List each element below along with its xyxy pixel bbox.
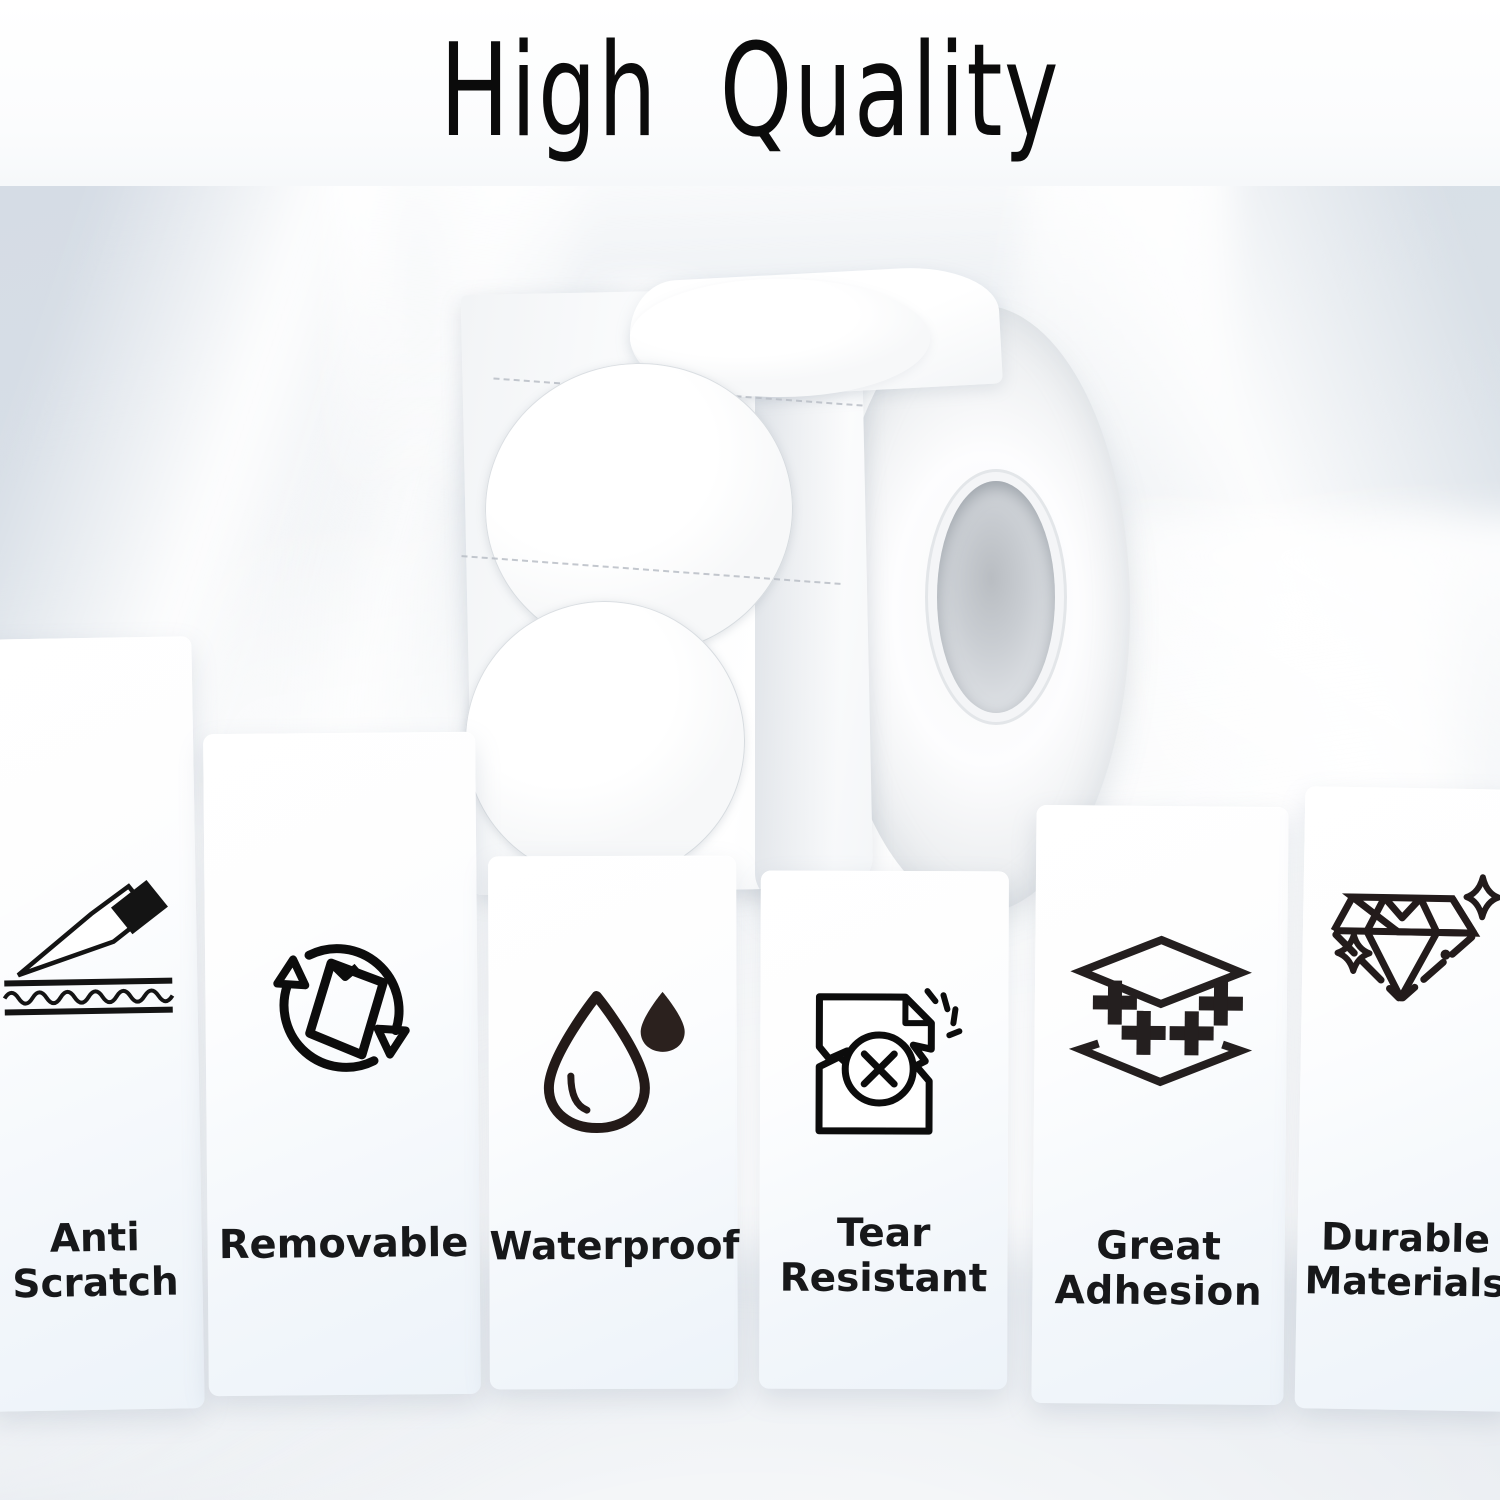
feature-label: Anti Scratch (0, 1214, 203, 1308)
diamond-sparkle-icon (1301, 872, 1500, 1026)
feature-card-anti-scratch: Anti Scratch (0, 636, 205, 1412)
feature-label: Durable Materials (1296, 1214, 1500, 1306)
feature-card-tear-resistant: Tear Resistant (759, 871, 1009, 1390)
feature-cards-row: Anti Scratch Removable (0, 0, 1500, 1500)
feature-card-durable-materials: Durable Materials (1295, 786, 1500, 1412)
feature-card-waterproof: Waterproof (488, 856, 738, 1390)
knife-scratch-surface-icon (0, 872, 198, 1016)
feature-label: Great Adhesion (1032, 1223, 1285, 1316)
feature-card-removable: Removable (203, 732, 481, 1396)
header-band: High Quality (0, 0, 1500, 186)
feature-label: Tear Resistant (759, 1211, 1007, 1302)
page-title: High Quality (150, 22, 1350, 162)
feature-label: Waterproof (489, 1224, 737, 1270)
water-droplet-icon (489, 984, 738, 1135)
feature-label: Removable (207, 1220, 479, 1269)
torn-paper-no-tear-icon (760, 983, 1009, 1142)
recycle-arrows-label-icon (205, 932, 478, 1082)
layered-rhombus-plus-icon (1034, 933, 1287, 1087)
feature-card-great-adhesion: Great Adhesion (1031, 805, 1288, 1405)
